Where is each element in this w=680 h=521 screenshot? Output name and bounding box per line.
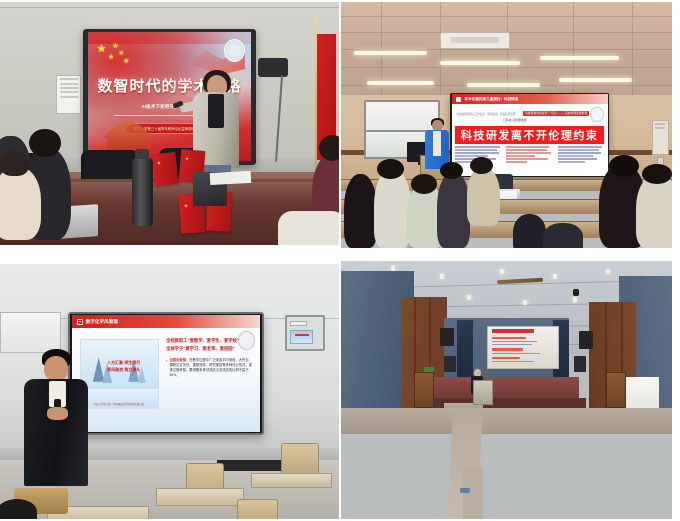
- student: [467, 167, 500, 226]
- ceiling-light: [559, 78, 632, 82]
- slide-sub-line: 口科技·高质量发展: [503, 118, 556, 122]
- display-bezel: 数字化学风管理 八方汇聚 师生同行 乘风破浪 勇立潮头 四川大学学工部 · 学风…: [70, 314, 262, 433]
- illustration-caption: 四川大学学工部 · 学风建设月系列活动实施方案: [85, 402, 153, 406]
- slide-banner: 科技研发离不开伦理约束: [455, 126, 604, 144]
- auditorium-scene: [341, 261, 672, 519]
- podium: [473, 380, 493, 406]
- wooden-desk: [156, 488, 244, 506]
- party-flag: ★: [151, 152, 178, 186]
- ceiling-ac-unit: [440, 32, 510, 49]
- slide-bullet: ▪ 过程化考核：在教学过程中广泛采用平时测验、大作业、课程论文写作、课堂测评、研…: [166, 358, 254, 378]
- floor: [341, 408, 672, 434]
- exit-door: [414, 372, 434, 408]
- papers: [210, 171, 251, 185]
- audience-member: [278, 211, 339, 245]
- seminar-room-scene: ★ ★ ★ ★ ★ 数智时代的学术品格 AI技术下如何守护学术伦理 四川大学第三…: [0, 2, 339, 245]
- slide-meta-line: 中央和国家机关工作会议 · 国家发展 · 科技伦理治理: [456, 112, 525, 116]
- track-light: [573, 289, 579, 296]
- student: [374, 169, 410, 248]
- wall-notice: [56, 75, 81, 114]
- slide-header-bar: 学术伦理的第三重规约：科技研发: [452, 94, 608, 105]
- slide-header-bar: 数字化学风管理: [72, 315, 260, 328]
- slide-text-column: 全校教职工"爱教学、爱学生、爱学校" 全体学子"爱学习、爱老师、爱校园" ▪ 过…: [166, 337, 254, 410]
- student: [437, 172, 470, 248]
- slide-sub-bar: 科技研发创新就到了"尽头" —— 科技伦理需要前置: [523, 111, 588, 116]
- photo-bottom-left[interactable]: 数字化学风管理 八方汇聚 师生同行 乘风破浪 勇立潮头 四川大学学工部 · 学风…: [0, 264, 339, 519]
- audience-member: [0, 167, 41, 240]
- student: [543, 223, 583, 248]
- presenter-head: [44, 356, 68, 382]
- student: [636, 174, 672, 248]
- slide-bullet-text: 过程化考核：在教学过程中广泛采用平时测验、大作业、课程论文写作、课堂测评、研究报…: [170, 358, 255, 378]
- slide-heading-bar: [492, 329, 534, 333]
- wooden-desk: [251, 473, 332, 488]
- student-head: [411, 174, 437, 194]
- flagpole-finial: [314, 19, 318, 23]
- loudspeaker: [574, 356, 586, 371]
- party-emblem-icon: ★: [183, 203, 188, 209]
- wall-seam: [0, 7, 339, 8]
- slide-header-text: 数字化学风管理: [86, 319, 118, 325]
- presenter-hands: [47, 407, 67, 420]
- ceiling-light: [354, 51, 427, 55]
- dark-desk: [217, 460, 292, 470]
- ceiling-light: [540, 56, 619, 60]
- slide-headline-2: 全体学子"爱学习、爱老师、爱校园": [166, 345, 254, 353]
- loudspeaker: [440, 328, 453, 346]
- loudspeaker: [444, 356, 456, 371]
- lecture-hall-scene: 学术伦理的第三重规约：科技研发 中央和国家机关工作会议 · 国家发展 · 科技伦…: [341, 2, 672, 248]
- loudspeaker: [579, 331, 592, 349]
- student-head: [642, 164, 672, 184]
- slide-banner-text: 科技研发离不开伦理约束: [461, 127, 599, 143]
- wooden-chair: [281, 443, 318, 476]
- university-logo-icon: [590, 107, 603, 122]
- slide-illustration: 八方汇聚 师生同行 乘风破浪 勇立潮头 四川大学学工部 · 学风建设月系列活动实…: [80, 339, 159, 409]
- center-aisle: [463, 467, 483, 519]
- ceiling-light: [367, 81, 433, 85]
- student-head: [609, 155, 639, 177]
- bullet-marker-icon: ▪: [166, 358, 167, 363]
- slide-header-text: 学术伦理的第三重规约：科技研发: [464, 97, 518, 102]
- projection-screen: [487, 326, 560, 370]
- photo-top-left[interactable]: ★ ★ ★ ★ ★ 数智时代的学术品格 AI技术下如何守护学术伦理 四川大学第三…: [0, 2, 339, 245]
- student: [344, 174, 377, 248]
- fire-alarm-panel: [285, 315, 326, 351]
- illustration-text: 八方汇聚 师生同行 乘风破浪 勇立潮头: [104, 360, 144, 374]
- photo-top-right[interactable]: 学术伦理的第三重规约：科技研发 中央和国家机关工作会议 · 国家发展 · 科技伦…: [341, 2, 672, 248]
- speaker-shirt: [433, 131, 441, 156]
- photo-bottom-right[interactable]: Large auditorium packed with students fa…: [341, 261, 672, 519]
- ceiling-camera-icon: [258, 58, 289, 77]
- stage-curtain: [457, 320, 474, 377]
- gold-stars-icon: ★ ★ ★ ★ ★: [96, 43, 132, 71]
- presentation-slide: 数字化学风管理 八方汇聚 师生同行 乘风破浪 勇立潮头 四川大学学工部 · 学风…: [72, 315, 260, 432]
- wall-intercom-panel: [652, 120, 669, 154]
- slide-body-column: [506, 146, 553, 173]
- target-icon: [77, 319, 83, 325]
- thermos-flask: [132, 158, 152, 226]
- ceiling-light: [467, 83, 540, 87]
- party-emblem-icon: ✦: [184, 157, 189, 163]
- bullet-label: 过程化考核：: [170, 358, 190, 362]
- whiteboard: [0, 312, 61, 353]
- photo-collage: ★ ★ ★ ★ ★ 数智时代的学术品格 AI技术下如何守护学术伦理 四川大学第三…: [0, 0, 680, 521]
- aisle-marker: [460, 488, 470, 493]
- ceiling-light: [440, 61, 519, 65]
- wall-display: 数字化学风管理 八方汇聚 师生同行 乘风破浪 勇立潮头 四川大学学工部 · 学风…: [68, 312, 265, 434]
- exit-sign-icon: [424, 367, 434, 372]
- slide-body-column: [558, 146, 605, 173]
- university-seal-icon: [224, 39, 245, 62]
- party-emblem-icon: ★: [156, 160, 161, 166]
- exit-door: [606, 372, 626, 408]
- student: [513, 214, 546, 248]
- classroom-scene: 数字化学风管理 八方汇聚 师生同行 乘风破浪 勇立潮头 四川大学学工部 · 学风…: [0, 264, 339, 519]
- slide-headline-1: 全校教职工"爱教学、爱学生、爱学校": [166, 337, 254, 345]
- wooden-chair: [237, 499, 278, 519]
- presenter-top: [208, 94, 223, 128]
- bullet-square-icon: [456, 97, 461, 102]
- student-head: [377, 159, 403, 179]
